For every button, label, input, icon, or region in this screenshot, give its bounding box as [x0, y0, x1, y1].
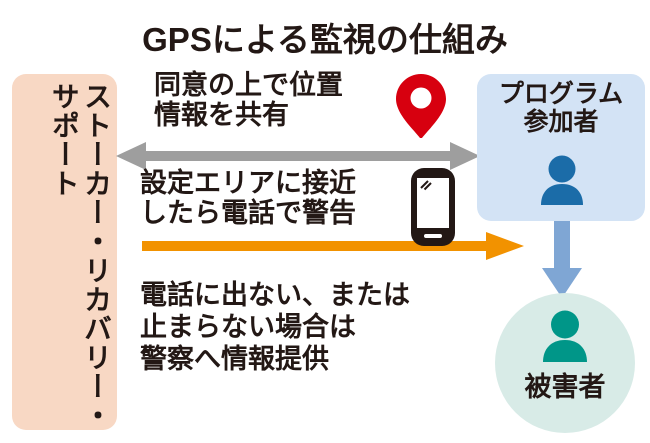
- flow-text-phone-warning: 設定エリアに接近 したら電話で警告: [140, 168, 356, 228]
- page-title: GPSによる監視の仕組み: [0, 13, 650, 61]
- program-participant-label-line2: 参加者: [477, 108, 645, 136]
- program-participant-label: プログラム 参加者: [477, 80, 645, 136]
- flow-text-police-report: 電話に出ない、または 止まらない場合は 警察へ情報提供: [140, 280, 410, 376]
- person-icon: [536, 155, 588, 207]
- infographic-canvas: GPSによる監視の仕組み ストーカー・リカバリー・ サポート 同意の上で位置 情…: [0, 0, 650, 443]
- person-icon: [538, 310, 592, 364]
- support-organization-box: [12, 74, 117, 430]
- smartphone-icon: [411, 168, 455, 246]
- program-participant-label-line1: プログラム: [477, 80, 645, 108]
- map-pin-icon: [396, 74, 446, 138]
- victim-label: 被害者: [495, 365, 635, 404]
- down-arrow: [540, 218, 584, 298]
- double-headed-arrow: [116, 141, 480, 171]
- flow-text-share-location: 同意の上で位置 情報を共有: [154, 70, 343, 130]
- right-arrow: [142, 232, 524, 260]
